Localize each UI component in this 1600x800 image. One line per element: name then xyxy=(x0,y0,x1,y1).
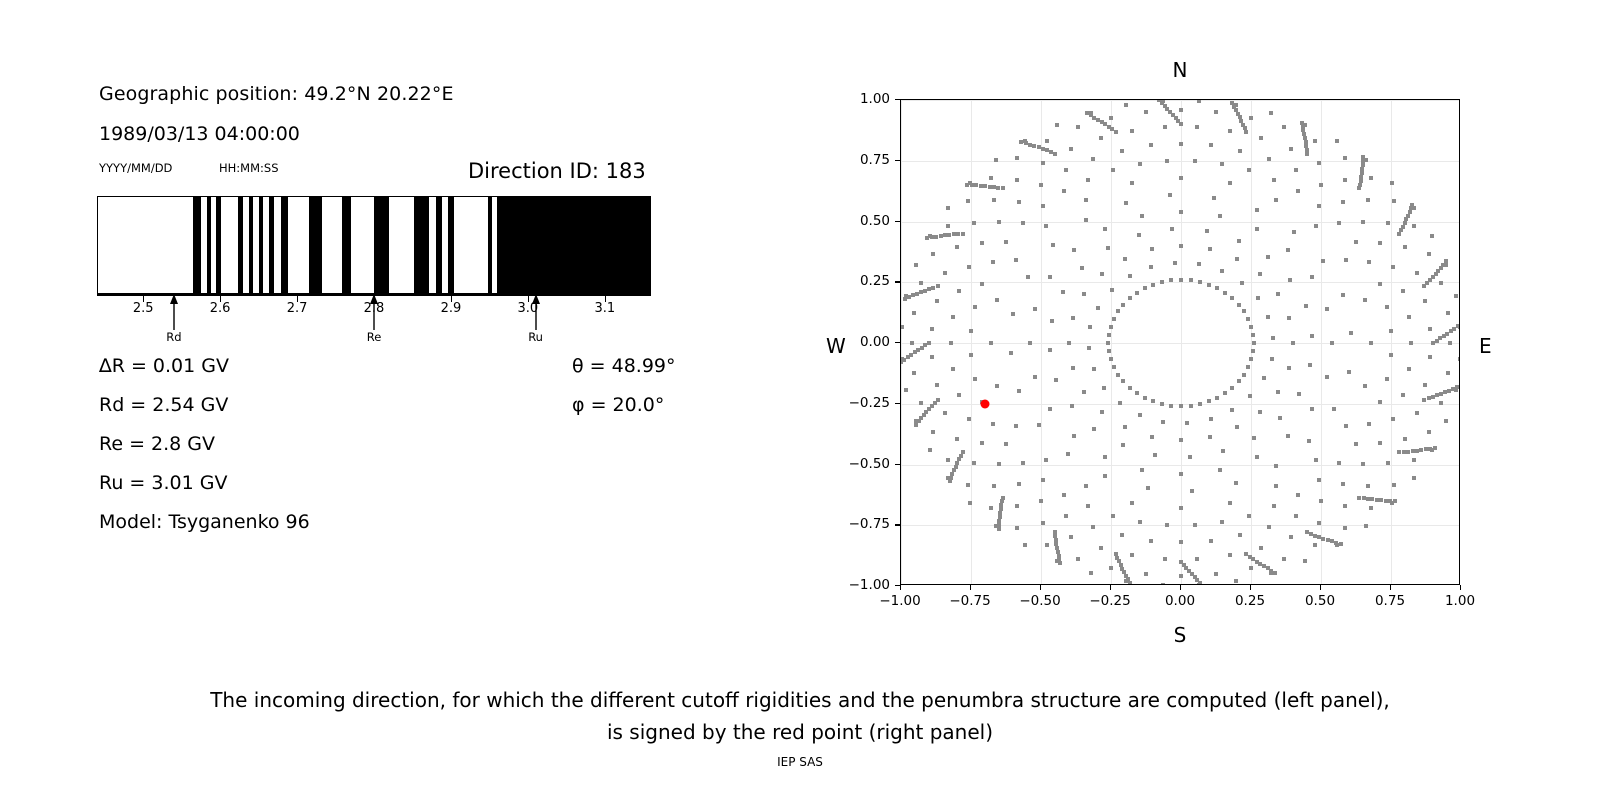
direction-dot xyxy=(1130,501,1134,505)
sky-map-y-tick-label: −0.50 xyxy=(838,456,890,472)
sky-map-y-tick-label: −1.00 xyxy=(838,577,890,593)
caption-line-2: is signed by the red point (right panel) xyxy=(0,716,1600,748)
direction-dot xyxy=(900,360,903,364)
direction-dot xyxy=(1428,355,1432,359)
direction-dot xyxy=(1209,417,1213,421)
direction-dot xyxy=(1151,399,1155,403)
direction-dot xyxy=(1357,186,1361,190)
direction-dot xyxy=(1001,186,1005,190)
date-format-hint: YYYY/MM/DD xyxy=(99,161,172,175)
sky-map-x-tick xyxy=(970,585,971,590)
direction-dot xyxy=(1321,259,1325,263)
penumbra-band xyxy=(281,196,288,294)
sky-map-y-tick xyxy=(895,342,900,343)
direction-dot xyxy=(1360,171,1364,175)
direction-dot xyxy=(1314,458,1318,462)
direction-dot xyxy=(1218,214,1222,218)
direction-dot xyxy=(1397,450,1401,454)
sky-map-x-tick xyxy=(1180,585,1181,590)
direction-dot xyxy=(980,441,984,445)
direction-dot xyxy=(1258,272,1262,276)
direction-dot xyxy=(1195,125,1199,129)
direction-dot xyxy=(1337,221,1341,225)
direction-dot xyxy=(1041,161,1045,165)
direction-dot xyxy=(1444,259,1448,263)
grid-line-vertical xyxy=(1041,100,1042,584)
direction-dot xyxy=(1071,366,1075,370)
direction-dot xyxy=(1249,357,1253,361)
direction-dot xyxy=(1439,401,1443,405)
direction-dot xyxy=(1237,239,1241,243)
direction-dot xyxy=(1135,391,1139,395)
direction-dot xyxy=(1165,523,1169,527)
direction-dot xyxy=(1017,200,1021,204)
direction-dot xyxy=(1386,221,1390,225)
direction-dot xyxy=(1378,441,1382,445)
direction-dot xyxy=(1403,221,1407,225)
sky-map-y-tick xyxy=(895,221,900,222)
direction-dot xyxy=(947,233,951,237)
direction-dot xyxy=(1209,539,1213,543)
direction-dot xyxy=(989,176,993,180)
direction-dot xyxy=(1317,161,1321,165)
direction-dot xyxy=(1179,540,1183,544)
direction-dot xyxy=(1179,176,1183,180)
penumbra-band xyxy=(207,196,211,294)
sky-map-x-tick xyxy=(1460,585,1461,590)
direction-dot xyxy=(1197,262,1201,266)
direction-dot xyxy=(1197,99,1201,103)
direction-dot xyxy=(1198,280,1202,284)
direction-dot xyxy=(923,289,927,293)
direction-dot xyxy=(1325,375,1329,379)
direction-dot xyxy=(1230,101,1234,105)
sky-map-plot-area xyxy=(900,99,1460,585)
penumbra-axis-tick-label: 2.9 xyxy=(441,301,462,316)
direction-dot xyxy=(1272,178,1276,182)
direction-dot xyxy=(1385,305,1389,309)
direction-dot xyxy=(1385,377,1389,381)
direction-dot xyxy=(1430,234,1434,238)
direction-dot xyxy=(1088,325,1092,329)
sky-map-y-tick xyxy=(895,464,900,465)
direction-dot xyxy=(1023,543,1027,547)
direction-dot xyxy=(1228,501,1232,505)
direction-dot xyxy=(1378,282,1382,286)
direction-dot xyxy=(1378,400,1382,404)
direction-dot xyxy=(930,327,934,331)
direction-dot xyxy=(1303,136,1307,140)
direction-dot xyxy=(1267,525,1271,529)
direction-dot xyxy=(966,483,970,487)
direction-dot xyxy=(957,393,961,397)
direction-dot xyxy=(1319,183,1323,187)
direction-dot xyxy=(1242,373,1246,377)
direction-dot xyxy=(1361,220,1365,224)
direction-dot xyxy=(1273,571,1277,575)
direction-dot xyxy=(1004,442,1008,446)
direction-dot xyxy=(965,183,969,187)
direction-dot xyxy=(1236,112,1240,116)
compass-label-north: N xyxy=(1173,58,1188,82)
direction-dot xyxy=(1069,147,1073,151)
direction-dot xyxy=(1017,482,1021,486)
direction-dot xyxy=(1242,309,1246,313)
direction-dot xyxy=(1247,514,1251,518)
direction-dot xyxy=(1238,533,1242,537)
penumbra-band xyxy=(414,196,429,294)
caption-line-1: The incoming direction, for which the di… xyxy=(0,684,1600,716)
direction-dot xyxy=(1149,539,1153,543)
direction-dot xyxy=(1304,140,1308,144)
direction-dot xyxy=(1406,214,1410,218)
direction-dot xyxy=(1099,546,1103,550)
direction-dot xyxy=(1282,125,1286,129)
direction-dot xyxy=(1412,476,1416,480)
penumbra-band xyxy=(193,196,201,294)
direction-dot xyxy=(1103,455,1107,459)
sky-map-y-tick xyxy=(895,160,900,161)
direction-dot xyxy=(1369,506,1373,510)
sky-map-x-tick xyxy=(1110,585,1111,590)
direction-dot xyxy=(1160,280,1164,284)
direction-dot xyxy=(916,348,920,352)
direction-dot xyxy=(1049,150,1053,154)
direction-dot xyxy=(969,353,973,357)
direction-dot xyxy=(1082,390,1086,394)
sky-map-y-tick xyxy=(895,403,900,404)
direction-dot xyxy=(1358,183,1362,187)
direction-dot xyxy=(983,184,987,188)
direction-dot xyxy=(1161,583,1165,585)
direction-dot xyxy=(1235,257,1239,261)
direction-dot xyxy=(1428,447,1432,451)
direction-dot xyxy=(1091,525,1095,529)
direction-dot xyxy=(925,236,929,240)
direction-dot xyxy=(973,305,977,309)
direction-dot xyxy=(1412,224,1416,228)
direction-dot xyxy=(1163,557,1167,561)
direction-dot xyxy=(1399,228,1403,232)
direction-dot xyxy=(910,341,914,345)
direction-dot xyxy=(1270,357,1274,361)
direction-dot xyxy=(1041,147,1045,151)
sky-map-x-tick-label: 0.25 xyxy=(1235,593,1265,609)
grid-line-vertical xyxy=(1391,100,1392,584)
direction-dot xyxy=(1446,371,1450,375)
direction-dot xyxy=(943,271,947,275)
direction-dot xyxy=(930,235,934,239)
direction-dot xyxy=(1310,407,1314,411)
direction-dot xyxy=(1140,214,1144,218)
grid-line-vertical xyxy=(901,100,902,584)
direction-dot xyxy=(1332,407,1336,411)
direction-dot xyxy=(1116,309,1120,313)
direction-dot xyxy=(1026,275,1030,279)
direction-dot xyxy=(1041,478,1045,482)
direction-dot xyxy=(1123,425,1127,429)
direction-id-text: Direction ID: 183 xyxy=(468,159,646,183)
direction-dot xyxy=(1252,436,1256,440)
direction-dot xyxy=(1271,336,1275,340)
direction-dot xyxy=(1193,159,1197,163)
direction-dot xyxy=(1249,325,1253,329)
sky-map-x-tick-label: 1.00 xyxy=(1445,593,1475,609)
rigidity-marker-arrow xyxy=(529,294,543,334)
sky-map-y-tick-label: 0.50 xyxy=(838,213,890,229)
direction-dot xyxy=(1100,410,1104,414)
direction-dot xyxy=(1428,327,1432,331)
direction-dot xyxy=(952,232,956,236)
rigidity-marker-label: Ru xyxy=(528,330,543,344)
direction-dot xyxy=(1310,275,1314,279)
direction-dot xyxy=(1092,427,1096,431)
direction-dot xyxy=(1130,129,1134,133)
direction-dot xyxy=(931,286,935,290)
direction-dot xyxy=(1243,126,1247,130)
direction-dot xyxy=(1061,290,1065,294)
direction-dot xyxy=(1369,341,1373,345)
direction-dot xyxy=(1190,489,1194,493)
direction-dot xyxy=(1044,458,1048,462)
direction-dot xyxy=(1107,333,1111,337)
direction-dot xyxy=(967,417,971,421)
direction-dot xyxy=(1179,506,1183,510)
direction-dot xyxy=(1228,129,1232,133)
direction-dot xyxy=(1455,385,1459,389)
direction-dot xyxy=(1144,572,1148,576)
direction-dot xyxy=(1220,269,1224,273)
direction-dot xyxy=(1407,315,1411,319)
direction-dot xyxy=(1252,341,1256,345)
direction-dot xyxy=(1015,526,1019,530)
direction-dot xyxy=(1234,108,1238,112)
direction-dot xyxy=(1120,149,1124,153)
direction-dot xyxy=(957,289,961,293)
direction-dot xyxy=(1286,248,1290,252)
direction-dot xyxy=(1076,125,1080,129)
direction-dot xyxy=(997,527,1001,531)
direction-dot xyxy=(936,284,940,288)
direction-dot xyxy=(1058,561,1062,565)
direction-dot xyxy=(1109,116,1113,120)
direction-dot xyxy=(1272,504,1276,508)
direction-dot xyxy=(928,448,932,452)
sky-map-x-tick-label: −0.75 xyxy=(949,593,990,609)
direction-dot xyxy=(1011,312,1015,316)
footer-credit: IEP SAS xyxy=(0,755,1600,769)
direction-dot xyxy=(1179,574,1183,578)
direction-dot xyxy=(1406,450,1410,454)
direction-dot xyxy=(1235,425,1239,429)
direction-dot xyxy=(1179,108,1183,112)
direction-dot xyxy=(1092,116,1096,120)
direction-dot xyxy=(1314,224,1318,228)
direction-dot xyxy=(1169,278,1173,282)
direction-dot xyxy=(1161,420,1165,424)
direction-dot xyxy=(989,341,993,345)
selected-direction-marker[interactable] xyxy=(981,399,990,408)
grid-line-horizontal xyxy=(901,465,1459,466)
direction-dot xyxy=(1179,438,1183,442)
direction-dot xyxy=(919,281,923,285)
direction-dot xyxy=(1317,521,1321,525)
direction-dot xyxy=(980,282,984,286)
direction-dot xyxy=(1341,482,1345,486)
direction-dot xyxy=(1287,316,1291,320)
direction-dot xyxy=(1335,139,1339,143)
direction-dot xyxy=(1218,468,1222,472)
direction-dot xyxy=(1221,449,1225,453)
direction-dot xyxy=(1149,265,1153,269)
direction-dot xyxy=(1208,435,1212,439)
direction-dot xyxy=(906,355,910,359)
direction-dot xyxy=(1055,123,1059,127)
direction-dot xyxy=(1419,448,1423,452)
direction-dot xyxy=(931,252,935,256)
direction-dot xyxy=(996,186,1000,190)
penumbra-band xyxy=(249,196,254,294)
direction-dot xyxy=(1255,208,1259,212)
direction-dot xyxy=(991,260,995,264)
direction-dot xyxy=(1223,291,1227,295)
direction-dot xyxy=(1433,446,1437,450)
direction-dot xyxy=(913,350,917,354)
direction-dot xyxy=(1456,324,1460,328)
direction-dot xyxy=(1121,303,1125,307)
direction-dot xyxy=(1361,462,1365,466)
direction-dot xyxy=(1086,504,1090,508)
direction-dot xyxy=(1014,258,1018,262)
direction-dot xyxy=(1234,481,1238,485)
sky-map-x-tick xyxy=(900,585,901,590)
direction-dot xyxy=(988,185,992,189)
direction-dot xyxy=(1366,497,1370,501)
direction-dot xyxy=(1198,402,1202,406)
direction-dot xyxy=(995,298,999,302)
direction-dot xyxy=(1062,493,1066,497)
direction-dot xyxy=(956,232,960,236)
direction-dot xyxy=(1363,384,1367,388)
direction-dot xyxy=(1459,322,1460,326)
direction-dot xyxy=(1168,193,1172,197)
direction-dot xyxy=(1039,499,1043,503)
direction-dot xyxy=(1041,204,1045,208)
time-format-hint: HH:MM:SS xyxy=(219,161,279,175)
direction-dot xyxy=(912,311,916,315)
direction-dot xyxy=(1251,349,1255,353)
sky-map-y-tick xyxy=(895,585,900,586)
direction-dot xyxy=(946,458,950,462)
direction-dot xyxy=(1045,543,1049,547)
direction-dot xyxy=(1106,246,1110,250)
direction-dot xyxy=(946,206,950,210)
direction-dot xyxy=(1045,148,1049,152)
direction-dot xyxy=(909,353,913,357)
grid-line-horizontal xyxy=(901,222,1459,223)
direction-dot xyxy=(955,437,959,441)
direction-dot xyxy=(1143,286,1147,290)
direction-dot xyxy=(1359,175,1363,179)
direction-dot xyxy=(1401,225,1405,229)
direction-dot xyxy=(1303,559,1307,563)
sky-map-y-tick-label: 0.25 xyxy=(838,273,890,289)
direction-dot xyxy=(1393,499,1397,503)
direction-dot xyxy=(1291,341,1295,345)
direction-dot xyxy=(1300,121,1304,125)
direction-dot xyxy=(1347,370,1351,374)
direction-dot xyxy=(1409,341,1413,345)
direction-dot xyxy=(1189,278,1193,282)
direction-dot xyxy=(1286,434,1290,438)
direction-dot xyxy=(1251,333,1255,337)
direction-dot xyxy=(1215,286,1219,290)
direction-dot xyxy=(968,501,972,505)
direction-dot xyxy=(1157,99,1161,102)
direction-dot xyxy=(1103,227,1107,231)
direction-dot xyxy=(1337,461,1341,465)
direction-dot xyxy=(1160,402,1164,406)
direction-dot xyxy=(1262,376,1266,380)
direction-dot xyxy=(1048,348,1052,352)
direction-dot xyxy=(1207,399,1211,403)
direction-dot xyxy=(1028,143,1032,147)
direction-dot xyxy=(1384,499,1388,503)
direction-dot xyxy=(1123,257,1127,261)
penumbra-band xyxy=(216,196,221,294)
direction-dot xyxy=(1205,229,1209,233)
direction-dot xyxy=(1305,148,1309,152)
direction-dot xyxy=(1015,156,1019,160)
direction-dot xyxy=(1255,455,1259,459)
direction-dot xyxy=(1274,484,1278,488)
direction-dot xyxy=(1121,443,1125,447)
direction-dot xyxy=(1091,157,1095,161)
direction-dot xyxy=(1009,351,1013,355)
direction-dot xyxy=(1033,375,1037,379)
direction-dot xyxy=(904,388,908,392)
direction-dot xyxy=(997,462,1001,466)
penumbra-axis-tick-label: 2.5 xyxy=(133,301,154,316)
direction-dot xyxy=(1344,258,1348,262)
direction-dot xyxy=(1230,296,1234,300)
sky-map-x-tick-label: 0.00 xyxy=(1165,593,1195,609)
direction-dot xyxy=(1266,255,1270,259)
penumbra-band xyxy=(309,196,323,294)
direction-dot xyxy=(1165,159,1169,163)
grid-line-horizontal xyxy=(901,343,1459,344)
direction-dot xyxy=(1128,296,1132,300)
direction-dot xyxy=(902,358,906,362)
direction-dot xyxy=(1111,514,1115,518)
direction-dot xyxy=(1289,535,1293,539)
direction-dot xyxy=(1150,435,1154,439)
direction-dot xyxy=(992,198,996,202)
direction-dot xyxy=(1458,357,1460,361)
direction-dot xyxy=(1128,581,1132,585)
direction-dot xyxy=(907,295,911,299)
direction-dot xyxy=(1188,455,1192,459)
direction-dot xyxy=(1143,396,1147,400)
direction-dot xyxy=(919,401,923,405)
direction-dot xyxy=(1109,357,1113,361)
direction-dot xyxy=(1448,341,1452,345)
direction-dot xyxy=(1214,110,1218,114)
direction-dot xyxy=(1220,520,1224,524)
angle-parameter-text: φ = 20.0° xyxy=(572,394,664,416)
direction-dot xyxy=(966,199,970,203)
direction-dot xyxy=(992,484,996,488)
